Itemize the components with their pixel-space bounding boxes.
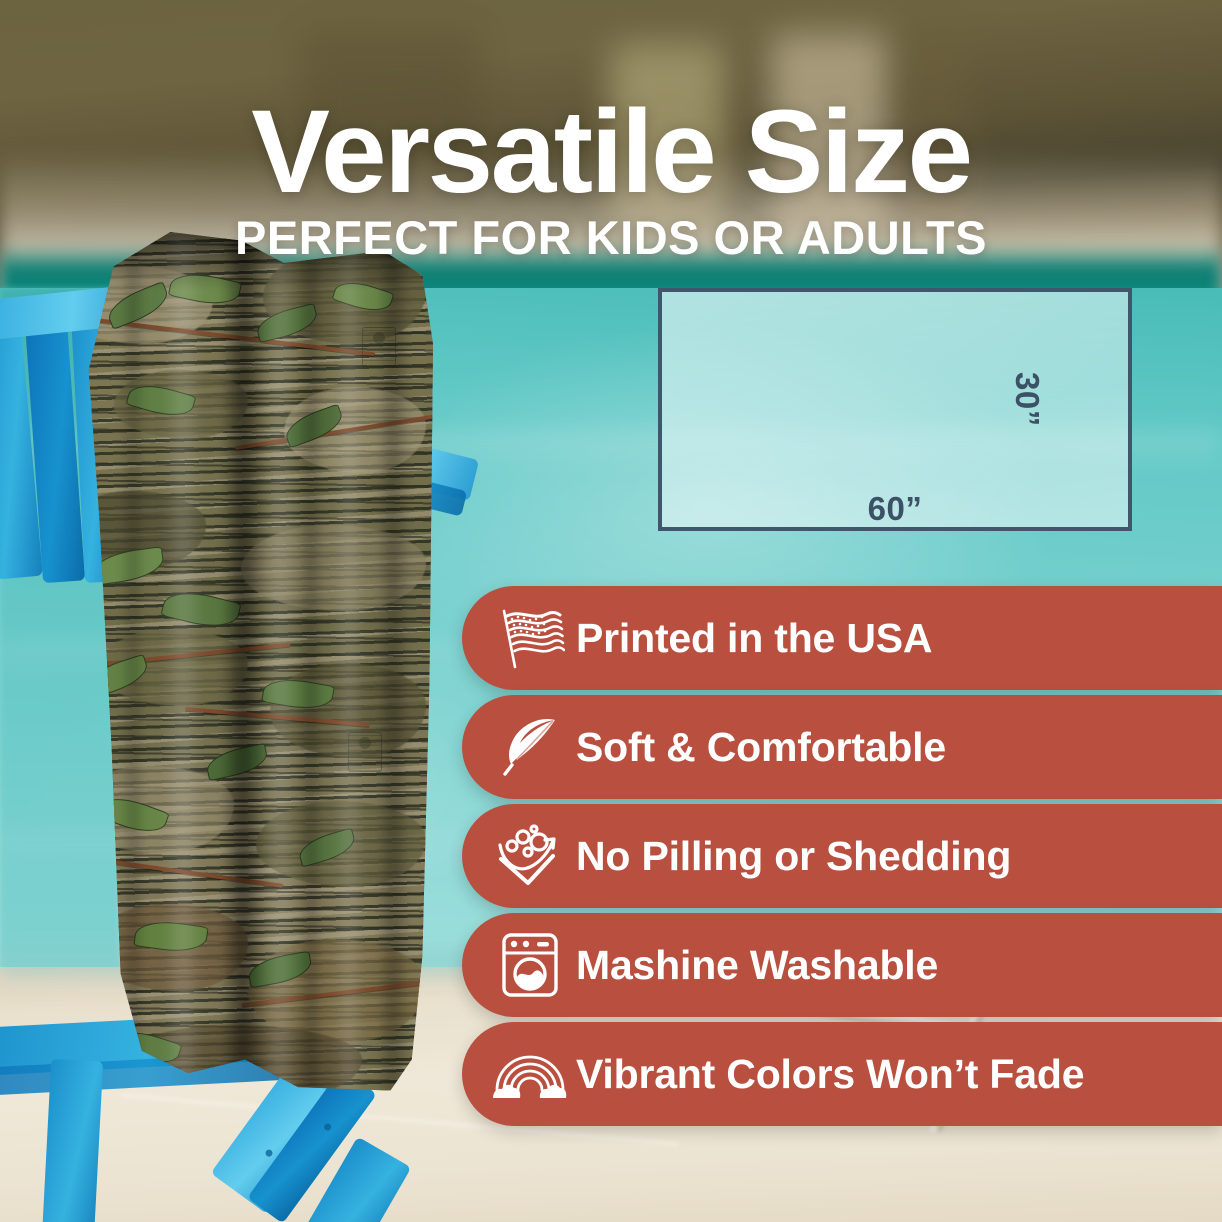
feature-pill-label: Vibrant Colors Won’t Fade: [576, 1051, 1084, 1098]
page-subtitle: PERFECT FOR KIDS OR ADULTS: [0, 210, 1222, 265]
feature-pill-machine-washable[interactable]: Mashine Washable: [462, 913, 1222, 1017]
chair-screw: [323, 1122, 333, 1132]
towel-fold-highlight: [163, 232, 203, 1094]
towel-fold-shadow: [220, 232, 266, 1094]
camo-beach-towel: [78, 232, 433, 1094]
chair-front-leg: [41, 1059, 103, 1222]
infographic-canvas: Versatile Size PERFECT FOR KIDS OR ADULT…: [0, 0, 1222, 1222]
towel-fold-shadow: [298, 232, 324, 1094]
feature-pill-soft-comfortable[interactable]: Soft & Comfortable: [462, 695, 1222, 799]
towel-fold-shadow: [376, 232, 410, 1094]
feature-pill-vibrant-colors[interactable]: Vibrant Colors Won’t Fade: [462, 1022, 1222, 1126]
feature-pill-printed-in-the-usa[interactable]: Printed in the USA: [462, 586, 1222, 690]
size-height-label: 30”: [1008, 372, 1046, 427]
rainbow-icon: [484, 1044, 576, 1104]
feature-pill-label: Soft & Comfortable: [576, 724, 946, 771]
page-title: Versatile Size: [0, 96, 1222, 209]
towel-fold-highlight: [334, 232, 364, 1094]
size-width-label: 60”: [658, 490, 1132, 528]
feature-pill-label: Printed in the USA: [576, 615, 932, 662]
feature-pill-label: Mashine Washable: [576, 942, 938, 989]
towel-fold-highlight: [263, 232, 297, 1094]
feature-pill-label: No Pilling or Shedding: [576, 833, 1011, 880]
usa-flag-icon: [484, 607, 576, 669]
washing-machine-icon: [484, 931, 576, 999]
chair-screw: [264, 1148, 274, 1158]
no-pilling-icon: [484, 823, 576, 889]
feather-icon: [484, 714, 576, 780]
feature-pill-no-pilling[interactable]: No Pilling or Shedding: [462, 804, 1222, 908]
towel-fold-shadow: [121, 232, 145, 1094]
